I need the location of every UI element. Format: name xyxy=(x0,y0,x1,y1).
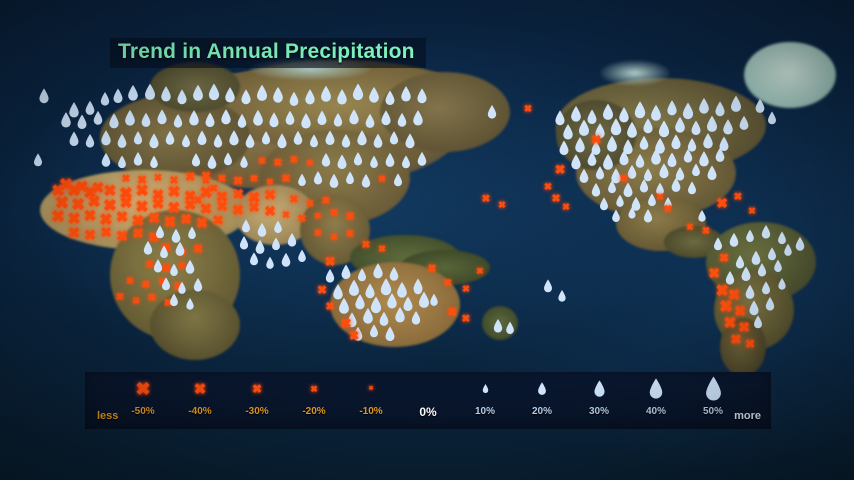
increase-marker xyxy=(748,300,760,316)
increase-marker xyxy=(394,307,406,323)
decrease-marker: ✖ xyxy=(306,153,314,171)
increase-marker xyxy=(345,171,355,185)
increase-marker xyxy=(372,133,383,148)
legend-zero-spacer xyxy=(399,372,457,406)
decrease-marker: ✖ xyxy=(185,168,195,186)
increase-marker xyxy=(271,237,281,251)
increase-marker xyxy=(683,149,694,164)
legend-x-icon: ✖ xyxy=(171,372,229,406)
increase-marker xyxy=(413,281,423,295)
increase-marker xyxy=(268,112,280,128)
increase-marker xyxy=(744,284,755,299)
decrease-marker: ✖ xyxy=(330,227,338,245)
increase-marker xyxy=(369,324,379,338)
increase-marker xyxy=(149,155,159,168)
increase-marker xyxy=(795,237,806,252)
increase-marker xyxy=(309,134,319,148)
increase-marker xyxy=(143,241,154,256)
increase-marker xyxy=(670,177,681,192)
decrease-marker: ✖ xyxy=(551,189,560,207)
increase-marker xyxy=(256,84,269,101)
legend-stop-20: 20% xyxy=(513,372,571,429)
legend-stop-label: 50% xyxy=(684,406,742,418)
decrease-marker: ✖ xyxy=(193,240,203,258)
increase-marker xyxy=(761,281,771,295)
increase-marker xyxy=(706,165,717,180)
precipitation-trend-map: ✖✖✖✖✖✖✖✖✖✖✖✖✖✖✖✖✖✖✖✖✖✖✖✖✖✖✖✖✖✖✖✖✖✖✖✖✖✖✖✖… xyxy=(0,0,854,480)
increase-marker xyxy=(666,100,678,116)
legend-stop-40: 40% xyxy=(627,372,685,429)
legend-stop-label: 0% xyxy=(399,406,457,418)
increase-marker xyxy=(204,112,215,127)
increase-marker xyxy=(193,278,204,293)
increase-marker xyxy=(687,181,697,195)
increase-marker xyxy=(192,84,205,101)
increase-marker xyxy=(321,153,332,168)
increase-marker xyxy=(670,134,682,150)
increase-marker xyxy=(412,110,424,126)
increase-marker xyxy=(287,233,298,248)
increase-marker xyxy=(745,229,755,242)
increase-marker xyxy=(609,118,622,136)
increase-marker xyxy=(297,249,307,262)
decrease-marker: ✖ xyxy=(290,150,299,168)
increase-marker xyxy=(187,226,197,239)
increase-marker xyxy=(753,315,763,329)
increase-marker xyxy=(297,173,307,186)
decrease-marker: ✖ xyxy=(84,227,96,245)
decrease-marker: ✖ xyxy=(193,191,202,209)
decrease-marker: ✖ xyxy=(51,209,65,227)
decrease-marker: ✖ xyxy=(68,225,80,243)
increase-marker xyxy=(324,130,335,145)
decrease-marker: ✖ xyxy=(664,199,673,217)
increase-marker xyxy=(336,89,348,105)
decrease-marker: ✖ xyxy=(362,235,371,253)
increase-marker xyxy=(706,115,719,132)
increase-marker xyxy=(505,321,515,334)
decrease-marker: ✖ xyxy=(330,203,339,221)
decrease-marker: ✖ xyxy=(708,265,720,283)
decrease-marker: ✖ xyxy=(555,161,566,179)
decrease-marker: ✖ xyxy=(154,168,163,186)
increase-marker xyxy=(404,133,416,149)
page-title: Trend in Annual Precipitation xyxy=(118,40,415,64)
increase-marker xyxy=(356,130,368,146)
increase-marker xyxy=(591,183,602,198)
decrease-marker: ✖ xyxy=(264,203,276,221)
increase-marker xyxy=(411,311,422,326)
decrease-marker: ✖ xyxy=(447,303,457,321)
decrease-marker: ✖ xyxy=(476,261,484,279)
legend-stop-minus10: ✖-10% xyxy=(342,372,400,429)
increase-marker xyxy=(642,118,654,134)
increase-marker xyxy=(328,173,339,188)
increase-marker xyxy=(378,311,389,326)
increase-marker xyxy=(626,121,639,138)
increase-marker xyxy=(562,124,574,140)
increase-marker xyxy=(265,257,275,270)
decrease-marker: ✖ xyxy=(702,221,711,239)
increase-marker xyxy=(207,83,220,101)
increase-marker xyxy=(368,87,380,104)
decrease-marker: ✖ xyxy=(289,190,298,208)
increase-marker xyxy=(698,98,710,115)
decrease-marker: ✖ xyxy=(719,249,729,267)
increase-marker xyxy=(369,155,379,168)
increase-marker xyxy=(657,120,670,138)
decrease-marker: ✖ xyxy=(462,309,471,327)
increase-marker xyxy=(60,112,72,128)
increase-marker xyxy=(213,134,224,149)
increase-marker xyxy=(578,119,591,136)
increase-marker xyxy=(722,119,734,135)
increase-marker xyxy=(773,259,783,272)
increase-marker xyxy=(353,152,364,166)
increase-marker xyxy=(224,87,236,103)
increase-marker xyxy=(606,135,619,152)
decrease-marker: ✖ xyxy=(281,169,290,187)
increase-marker xyxy=(754,98,765,113)
decrease-marker: ✖ xyxy=(748,201,756,219)
decrease-marker: ✖ xyxy=(345,207,354,225)
legend-droplet-icon xyxy=(684,372,742,406)
increase-marker xyxy=(674,117,686,134)
increase-marker xyxy=(68,131,79,146)
decrease-marker: ✖ xyxy=(378,169,386,187)
increase-marker xyxy=(658,163,670,179)
increase-marker xyxy=(237,114,248,129)
decrease-marker: ✖ xyxy=(282,205,290,223)
increase-marker xyxy=(738,115,749,130)
increase-marker xyxy=(124,110,136,127)
increase-marker xyxy=(633,101,646,119)
increase-marker xyxy=(116,133,127,148)
decrease-marker: ✖ xyxy=(100,224,112,242)
increase-marker xyxy=(38,88,50,104)
decrease-marker: ✖ xyxy=(248,199,259,217)
decrease-marker: ✖ xyxy=(591,131,601,149)
increase-marker xyxy=(729,233,740,248)
increase-marker xyxy=(783,244,793,257)
increase-marker xyxy=(393,173,403,187)
increase-marker xyxy=(284,110,295,125)
increase-marker xyxy=(384,90,395,105)
increase-marker xyxy=(493,319,504,334)
decrease-marker: ✖ xyxy=(346,224,355,242)
increase-marker xyxy=(188,110,200,126)
increase-marker xyxy=(611,209,621,222)
decrease-marker: ✖ xyxy=(325,297,334,315)
increase-marker xyxy=(320,85,333,102)
increase-marker xyxy=(429,294,439,307)
decrease-marker: ✖ xyxy=(444,273,453,291)
decrease-marker: ✖ xyxy=(482,189,491,207)
legend-stop-50: 50% xyxy=(684,372,742,429)
increase-marker xyxy=(578,168,589,183)
legend-panel: less more ✖-50%✖-40%✖-30%✖-20%✖-10%0%10%… xyxy=(85,372,771,429)
increase-marker xyxy=(117,155,127,169)
decrease-marker: ✖ xyxy=(524,99,533,117)
decrease-marker: ✖ xyxy=(498,195,506,213)
increase-marker xyxy=(133,131,144,145)
increase-marker xyxy=(595,166,606,180)
legend-stop-label: 40% xyxy=(627,406,685,418)
increase-marker xyxy=(100,92,111,107)
decrease-marker: ✖ xyxy=(562,197,570,215)
decrease-marker: ✖ xyxy=(745,335,755,353)
increase-marker xyxy=(702,133,714,149)
increase-marker xyxy=(341,134,352,149)
increase-marker xyxy=(169,263,179,276)
legend-stop-label: -40% xyxy=(171,406,229,418)
increase-marker xyxy=(400,86,412,102)
increase-marker xyxy=(690,120,701,135)
increase-marker xyxy=(148,133,160,149)
increase-marker xyxy=(777,278,786,291)
increase-marker xyxy=(185,298,194,311)
increase-marker xyxy=(627,207,636,219)
decrease-marker: ✖ xyxy=(620,169,629,187)
increase-marker xyxy=(165,131,176,146)
increase-marker xyxy=(153,259,164,273)
increase-marker xyxy=(348,109,360,125)
increase-marker xyxy=(304,89,316,105)
increase-marker xyxy=(643,209,654,223)
increase-marker xyxy=(333,113,344,128)
increase-marker xyxy=(372,263,384,279)
decrease-marker: ✖ xyxy=(314,206,322,224)
decrease-marker: ✖ xyxy=(427,259,436,277)
increase-marker xyxy=(615,195,625,208)
decrease-marker: ✖ xyxy=(734,187,743,205)
legend-stop-minus20: ✖-20% xyxy=(285,372,343,429)
increase-marker xyxy=(261,131,272,145)
legend-stop-label: -30% xyxy=(228,406,286,418)
increase-marker xyxy=(574,137,586,153)
increase-marker xyxy=(288,91,299,106)
increase-marker xyxy=(384,326,395,341)
increase-marker xyxy=(191,153,202,167)
decrease-marker: ✖ xyxy=(349,327,359,345)
increase-marker xyxy=(160,86,172,102)
decrease-marker: ✖ xyxy=(116,209,128,227)
decrease-marker: ✖ xyxy=(212,212,223,230)
increase-marker xyxy=(313,171,324,185)
increase-marker xyxy=(112,88,123,103)
increase-marker xyxy=(249,252,259,266)
increase-marker xyxy=(155,225,165,239)
increase-marker xyxy=(730,95,743,112)
decrease-marker: ✖ xyxy=(132,291,140,309)
increase-marker xyxy=(220,109,232,125)
decrease-marker: ✖ xyxy=(126,271,134,289)
increase-marker xyxy=(181,134,191,148)
increase-marker xyxy=(558,140,569,155)
legend-stop-minus40: ✖-40% xyxy=(171,372,229,429)
increase-marker xyxy=(380,110,392,126)
increase-marker xyxy=(101,153,112,168)
increase-marker xyxy=(384,152,395,167)
legend-stop-label: -10% xyxy=(342,406,400,418)
increase-marker xyxy=(639,136,650,151)
decrease-marker: ✖ xyxy=(686,217,694,235)
legend-droplet-icon xyxy=(513,372,571,406)
increase-marker xyxy=(161,277,171,291)
increase-marker xyxy=(185,260,196,275)
increase-marker xyxy=(140,112,151,127)
increase-marker xyxy=(293,131,304,146)
increase-marker xyxy=(156,109,168,125)
increase-marker xyxy=(239,156,249,169)
increase-marker xyxy=(33,153,43,167)
decrease-marker: ✖ xyxy=(730,331,741,349)
legend-stop-minus30: ✖-30% xyxy=(228,372,286,429)
increase-marker xyxy=(487,105,498,120)
increase-marker xyxy=(557,290,566,303)
legend-stop-label: 10% xyxy=(456,406,514,418)
decrease-marker: ✖ xyxy=(306,194,315,212)
legend-stop-0: 0% xyxy=(399,372,457,429)
decrease-marker: ✖ xyxy=(148,288,157,306)
decrease-marker: ✖ xyxy=(314,223,322,241)
increase-marker xyxy=(133,152,144,167)
increase-marker xyxy=(257,223,268,238)
increase-marker xyxy=(765,297,776,312)
increase-marker xyxy=(252,110,264,127)
legend-stop-30: 30% xyxy=(570,372,628,429)
increase-marker xyxy=(416,88,428,104)
decrease-marker: ✖ xyxy=(250,169,259,187)
increase-marker xyxy=(196,130,207,145)
legend-stop-label: 30% xyxy=(570,406,628,418)
increase-marker xyxy=(239,236,250,250)
increase-marker xyxy=(757,263,768,277)
increase-marker xyxy=(85,134,96,149)
increase-marker xyxy=(586,151,597,166)
increase-marker xyxy=(176,89,188,105)
increase-marker xyxy=(300,113,312,129)
increase-marker xyxy=(173,114,184,129)
increase-marker xyxy=(144,83,157,100)
decrease-marker: ✖ xyxy=(378,239,386,257)
increase-marker xyxy=(401,155,411,169)
legend-x-icon: ✖ xyxy=(285,372,343,406)
decrease-marker: ✖ xyxy=(462,279,470,297)
increase-marker xyxy=(281,253,292,268)
increase-marker xyxy=(389,131,400,145)
increase-marker xyxy=(223,152,233,166)
decrease-marker: ✖ xyxy=(84,208,97,226)
increase-marker xyxy=(244,133,255,148)
increase-marker xyxy=(362,308,374,325)
increase-marker xyxy=(740,266,751,281)
increase-marker xyxy=(241,219,251,233)
increase-marker xyxy=(93,111,104,126)
decrease-marker: ✖ xyxy=(232,202,244,220)
increase-marker xyxy=(607,180,617,194)
increase-marker xyxy=(276,133,288,149)
increase-marker xyxy=(417,152,428,167)
increase-marker xyxy=(127,85,139,102)
increase-marker xyxy=(272,87,284,104)
legend-stop-minus50: ✖-50% xyxy=(114,372,172,429)
increase-marker xyxy=(639,179,650,193)
increase-marker xyxy=(336,154,347,169)
decrease-marker: ✖ xyxy=(116,287,125,305)
increase-marker xyxy=(543,279,553,293)
legend-stop-10: 10% xyxy=(456,372,514,429)
legend-stop-label: -50% xyxy=(114,406,172,418)
legend-stop-label: 20% xyxy=(513,406,571,418)
decrease-marker: ✖ xyxy=(196,215,208,233)
increase-marker xyxy=(340,264,351,279)
decrease-marker: ✖ xyxy=(218,169,227,187)
increase-marker xyxy=(618,150,630,166)
increase-marker xyxy=(351,83,364,101)
increase-marker xyxy=(697,210,706,223)
increase-marker xyxy=(316,110,327,125)
legend-x-icon: ✖ xyxy=(114,372,172,406)
decrease-marker: ✖ xyxy=(258,151,266,169)
legend-x-icon: ✖ xyxy=(228,372,286,406)
legend-x-icon: ✖ xyxy=(342,372,400,406)
increase-marker xyxy=(228,130,240,146)
legend-droplet-icon xyxy=(570,372,628,406)
increase-marker xyxy=(714,147,725,162)
legend-droplet-icon xyxy=(627,372,685,406)
decrease-marker: ✖ xyxy=(116,228,128,246)
increase-marker xyxy=(691,163,701,177)
increase-marker xyxy=(174,241,185,256)
increase-marker xyxy=(100,130,112,146)
legend-droplet-icon xyxy=(456,372,514,406)
decrease-marker: ✖ xyxy=(325,253,336,271)
decrease-marker: ✖ xyxy=(716,195,728,213)
increase-marker xyxy=(364,113,375,128)
increase-marker xyxy=(76,114,87,129)
decrease-marker: ✖ xyxy=(210,179,219,197)
increase-marker xyxy=(599,197,609,211)
increase-marker xyxy=(240,89,252,105)
legend-stop-label: -20% xyxy=(285,406,343,418)
decrease-marker: ✖ xyxy=(298,209,307,227)
increase-marker xyxy=(169,293,179,307)
increase-marker xyxy=(361,174,372,189)
increase-marker xyxy=(397,113,408,128)
increase-marker xyxy=(159,245,169,259)
increase-marker xyxy=(761,225,772,240)
increase-marker xyxy=(767,111,777,125)
increase-marker xyxy=(108,113,120,129)
